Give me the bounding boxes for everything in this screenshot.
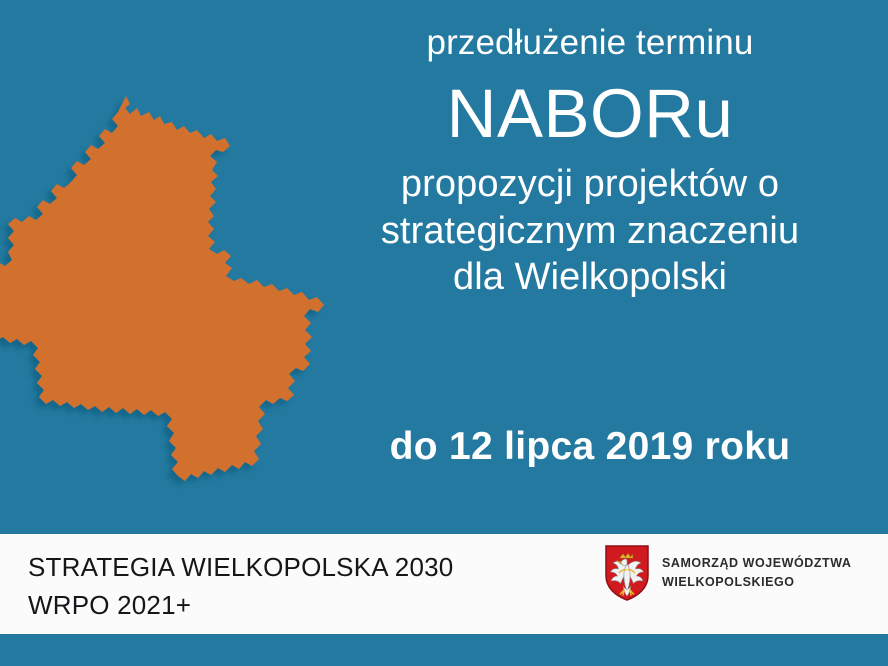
footer-bar: STRATEGIA WIELKOPOLSKA 2030 WRPO 2021+: [0, 534, 888, 634]
headline-line-4: strategicznym znaczeniu: [300, 208, 880, 255]
samorzad-logo: SAMORZĄD WOJEWÓDZTWA WIELKOPOLSKIEGO: [604, 544, 851, 602]
samorzad-logo-line-1: SAMORZĄD WOJEWÓDZTWA: [662, 554, 851, 573]
wielkopolska-coat-of-arms-shield-icon: [604, 544, 650, 602]
samorzad-logo-line-2: WIELKOPOLSKIEGO: [662, 573, 851, 592]
footer-program-text: STRATEGIA WIELKOPOLSKA 2030 WRPO 2021+: [28, 548, 453, 625]
headline-line-5: dla Wielkopolski: [300, 254, 880, 301]
wielkopolska-map-graphic: [0, 88, 330, 508]
deadline-text: do 12 lipca 2019 roku: [300, 425, 880, 469]
headline-line-2-naboru: NABORu: [300, 69, 880, 159]
footer-line-2: WRPO 2021+: [28, 586, 453, 624]
poster-canvas: przedłużenie terminu NABORu propozycji p…: [0, 0, 888, 666]
footer-line-1: STRATEGIA WIELKOPOLSKA 2030: [28, 548, 453, 586]
headline-block: przedłużenie terminu NABORu propozycji p…: [300, 22, 880, 301]
map-shape-path: [0, 96, 324, 481]
headline-line-3: propozycji projektów o: [300, 161, 880, 208]
samorzad-logo-text: SAMORZĄD WOJEWÓDZTWA WIELKOPOLSKIEGO: [662, 554, 851, 592]
headline-line-1: przedłużenie terminu: [300, 22, 880, 63]
